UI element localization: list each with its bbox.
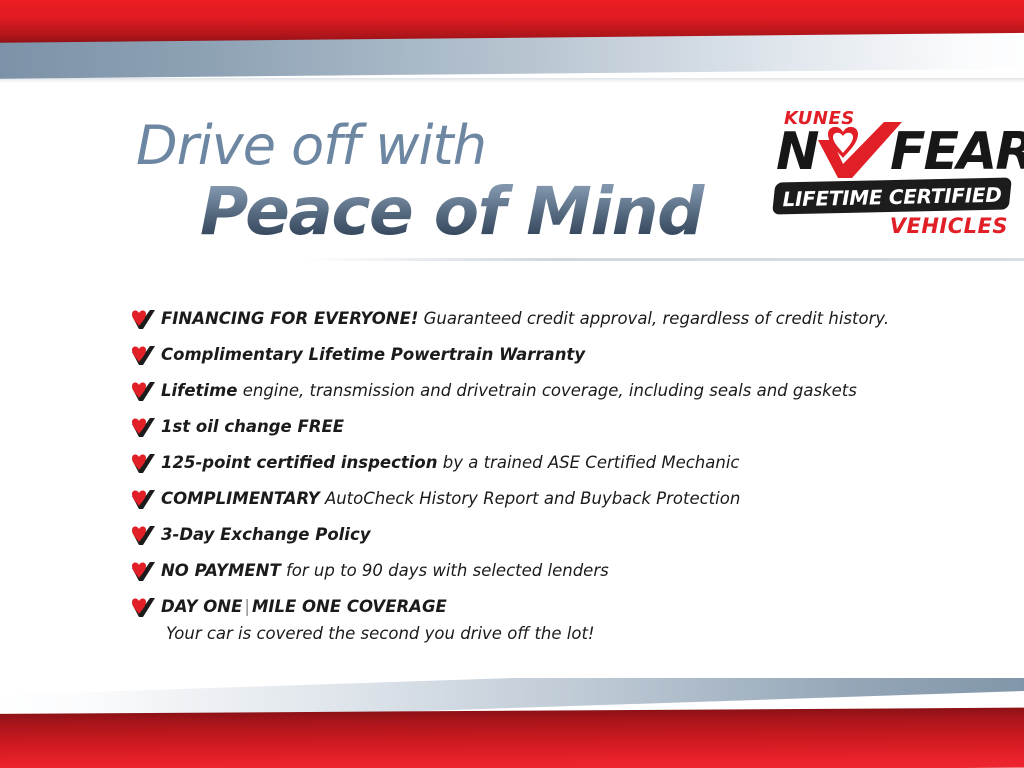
list-item-text: Lifetime engine, transmission and drivet… <box>161 380 857 401</box>
list-item-text: Complimentary Lifetime Powertrain Warran… <box>161 344 585 365</box>
list-item-bold: Lifetime <box>161 381 237 400</box>
red-heart-check-icon <box>130 417 156 439</box>
list-item-bold: FINANCING FOR EVERYONE! <box>161 309 418 328</box>
list-item-subtext: Your car is covered the second you drive… <box>166 623 970 644</box>
list-item-normal: by a trained ASE Certified Mechanic <box>443 453 740 472</box>
list-item-text: NO PAYMENT for up to 90 days with select… <box>161 560 609 581</box>
list-item-normal: engine, transmission and drivetrain cove… <box>243 381 857 400</box>
red-heart-check-icon <box>130 561 156 583</box>
list-item: 3-Day Exchange Policy <box>130 524 970 547</box>
list-item-text: 1st oil change FREE <box>161 416 344 437</box>
red-heart-check-icon <box>130 345 156 367</box>
red-heart-check-icon <box>130 453 156 475</box>
list-item-bold: NO PAYMENT <box>161 561 281 580</box>
logo-lifetime-certified-text: LIFETIME CERTIFIED <box>774 182 1010 213</box>
list-item-bold: 3-Day Exchange Policy <box>161 525 371 544</box>
list-item-bold-mile-one: MILE ONE COVERAGE <box>252 597 447 616</box>
headline-block: Drive off with Peace of Mind <box>136 118 756 248</box>
logo-word-fear: FEAR <box>890 126 1024 178</box>
list-item-bold-day-one: DAY ONE <box>161 597 242 616</box>
list-item: COMPLIMENTARY AutoCheck History Report a… <box>130 488 970 511</box>
list-item: FINANCING FOR EVERYONE! Guaranteed credi… <box>130 308 970 331</box>
list-item-bold: Complimentary Lifetime Powertrain Warran… <box>161 345 585 364</box>
red-heart-check-icon <box>130 525 156 547</box>
benefits-list: FINANCING FOR EVERYONE! Guaranteed credi… <box>130 308 970 644</box>
list-item: Complimentary Lifetime Powertrain Warran… <box>130 344 970 367</box>
red-heart-check-icon <box>130 597 156 619</box>
logo-vehicles-text: VEHICLES <box>890 214 1008 238</box>
red-heart-check-icon <box>130 309 156 331</box>
list-item-separator: | <box>242 597 252 616</box>
list-item-normal: Guaranteed credit approval, regardless o… <box>424 309 889 328</box>
list-item: Lifetime engine, transmission and drivet… <box>130 380 970 403</box>
logo-heart-check-icon <box>810 120 906 186</box>
list-item-text: DAY ONE|MILE ONE COVERAGE <box>161 596 447 617</box>
headline-line-one: Drive off with <box>136 118 756 174</box>
logo-no-fear-wordmark: N FEAR <box>772 126 1012 184</box>
bottom-red-stripe <box>0 708 1024 768</box>
promo-page: Drive off with Peace of Mind KUNES N FEA… <box>0 0 1024 768</box>
top-banner <box>0 0 1024 84</box>
red-heart-check-icon <box>130 381 156 403</box>
list-item-bold: COMPLIMENTARY <box>161 489 320 508</box>
list-item-text: 3-Day Exchange Policy <box>161 524 371 545</box>
red-heart-check-icon <box>130 489 156 511</box>
headline-line-two: Peace of Mind <box>200 176 756 248</box>
list-item-text: 125-point certified inspection by a trai… <box>161 452 739 473</box>
list-item-normal: for up to 90 days with selected lenders <box>286 561 609 580</box>
list-item-text: COMPLIMENTARY AutoCheck History Report a… <box>161 488 740 509</box>
list-item: 125-point certified inspection by a trai… <box>130 452 970 475</box>
top-stripe-shadow <box>0 78 1024 83</box>
list-item-bold: 1st oil change FREE <box>161 417 344 436</box>
header-divider <box>300 258 1024 261</box>
kunes-no-fear-logo: KUNES N FEAR LIFETIME CERTIFIED VEHICLES <box>772 106 1012 246</box>
bottom-banner <box>0 678 1024 768</box>
list-item: DAY ONE|MILE ONE COVERAGE <box>130 596 970 619</box>
list-item-bold: 125-point certified inspection <box>161 453 438 472</box>
list-item: NO PAYMENT for up to 90 days with select… <box>130 560 970 583</box>
list-item-text: FINANCING FOR EVERYONE! Guaranteed credi… <box>161 308 889 329</box>
list-item-normal: AutoCheck History Report and Buyback Pro… <box>325 489 740 508</box>
list-item: 1st oil change FREE <box>130 416 970 439</box>
